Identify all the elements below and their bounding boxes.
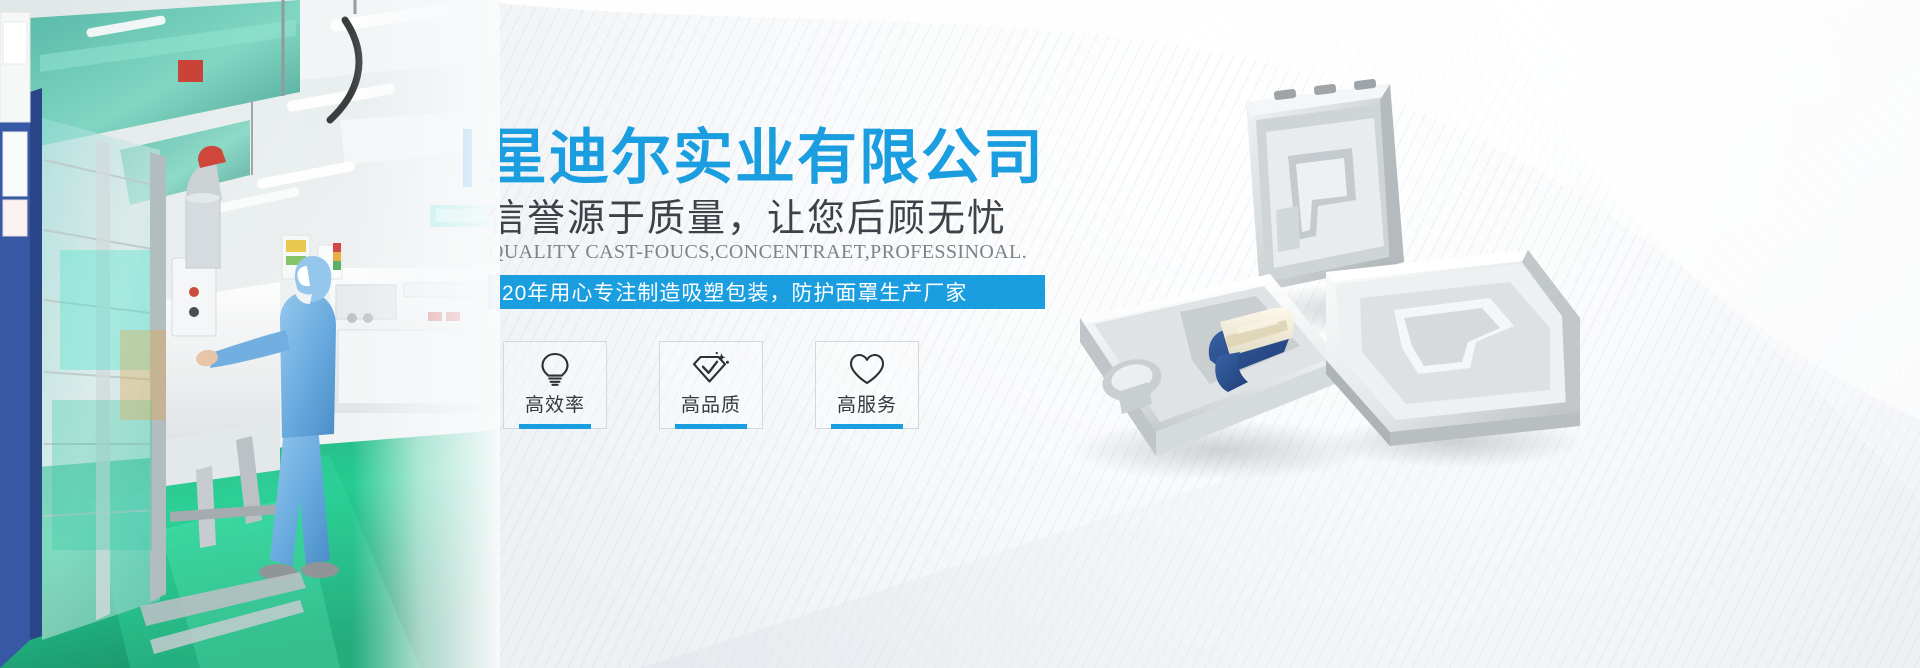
highlight-bar: 20年用心专注制造吸塑包装，防护面罩生产厂家 [488, 275, 1045, 309]
blister-tray-white-open [1326, 250, 1580, 446]
feature-item-quality[interactable]: 高品质 [659, 341, 763, 429]
cleanroom-factory-photo [0, 0, 500, 668]
company-title: 星迪尔实业有限公司 [487, 124, 1045, 192]
feature-item-service[interactable]: 高服务 [815, 341, 919, 429]
feature-underline [831, 424, 903, 429]
diamond-check-icon [691, 350, 731, 388]
feature-label: 高效率 [525, 390, 585, 417]
feature-label: 高服务 [837, 390, 897, 417]
hero-banner: 星迪尔实业有限公司 信誉源于质量，让您后顾无忧 QUALITY CAST-FOU… [0, 0, 1920, 668]
feature-underline [675, 424, 747, 429]
slogan-subtitle: 信誉源于质量，让您后顾无忧 [487, 196, 1007, 242]
heart-icon [848, 350, 886, 388]
english-tagline: QUALITY CAST-FOUCS,CONCENTRAET,PROFESSIN… [489, 240, 1027, 264]
feature-list: 高效率 高品质 高服务 [503, 341, 919, 429]
feature-item-efficiency[interactable]: 高效率 [503, 341, 607, 429]
blister-tray-grey-upright [1246, 79, 1404, 292]
highlight-bar-text: 20年用心专注制造吸塑包装，防护面罩生产厂家 [502, 275, 1045, 309]
feature-label: 高品质 [681, 390, 741, 417]
feature-underline [519, 424, 591, 429]
product-photo-group [1060, 60, 1580, 490]
photo-fade-mask [352, 0, 500, 668]
lightbulb-icon [538, 350, 572, 388]
